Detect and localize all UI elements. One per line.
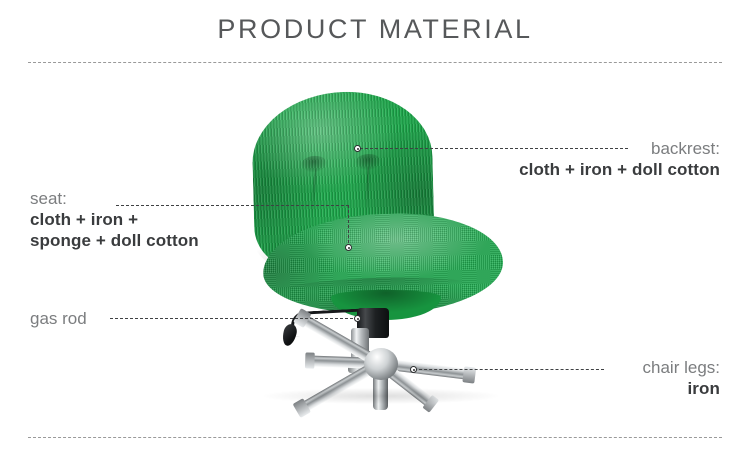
base-center-hub bbox=[364, 348, 398, 380]
marker-dot-chair-legs bbox=[410, 366, 417, 373]
leader-line-seat-vertical bbox=[348, 205, 349, 248]
callout-seat-value-line2: sponge + doll cotton bbox=[30, 230, 260, 251]
callout-gas-rod: gas rod bbox=[30, 308, 190, 329]
page-title: PRODUCT MATERIAL bbox=[0, 14, 750, 45]
callout-chair-legs: chair legs: iron bbox=[560, 357, 720, 399]
floor-shadow bbox=[263, 388, 499, 404]
callout-backrest-value: cloth + iron + doll cotton bbox=[498, 159, 720, 180]
callout-seat-value-line1: cloth + iron + bbox=[30, 209, 260, 230]
divider-bottom bbox=[28, 437, 722, 438]
callout-chair-legs-value: iron bbox=[560, 378, 720, 399]
divider-top bbox=[28, 62, 722, 63]
callout-seat-lead: seat: bbox=[30, 188, 260, 209]
product-material-infographic: PRODUCT MATERIAL bbox=[0, 0, 750, 468]
callout-backrest-lead: backrest: bbox=[498, 138, 720, 159]
callout-backrest: backrest: cloth + iron + doll cotton bbox=[498, 138, 720, 180]
marker-dot-seat bbox=[345, 244, 352, 251]
marker-dot-backrest bbox=[354, 145, 361, 152]
chair-illustration bbox=[245, 92, 515, 412]
marker-dot-gas-rod bbox=[354, 315, 361, 322]
callout-seat: seat: cloth + iron + sponge + doll cotto… bbox=[30, 188, 260, 251]
callout-gas-rod-lead: gas rod bbox=[30, 308, 190, 329]
callout-chair-legs-lead: chair legs: bbox=[560, 357, 720, 378]
